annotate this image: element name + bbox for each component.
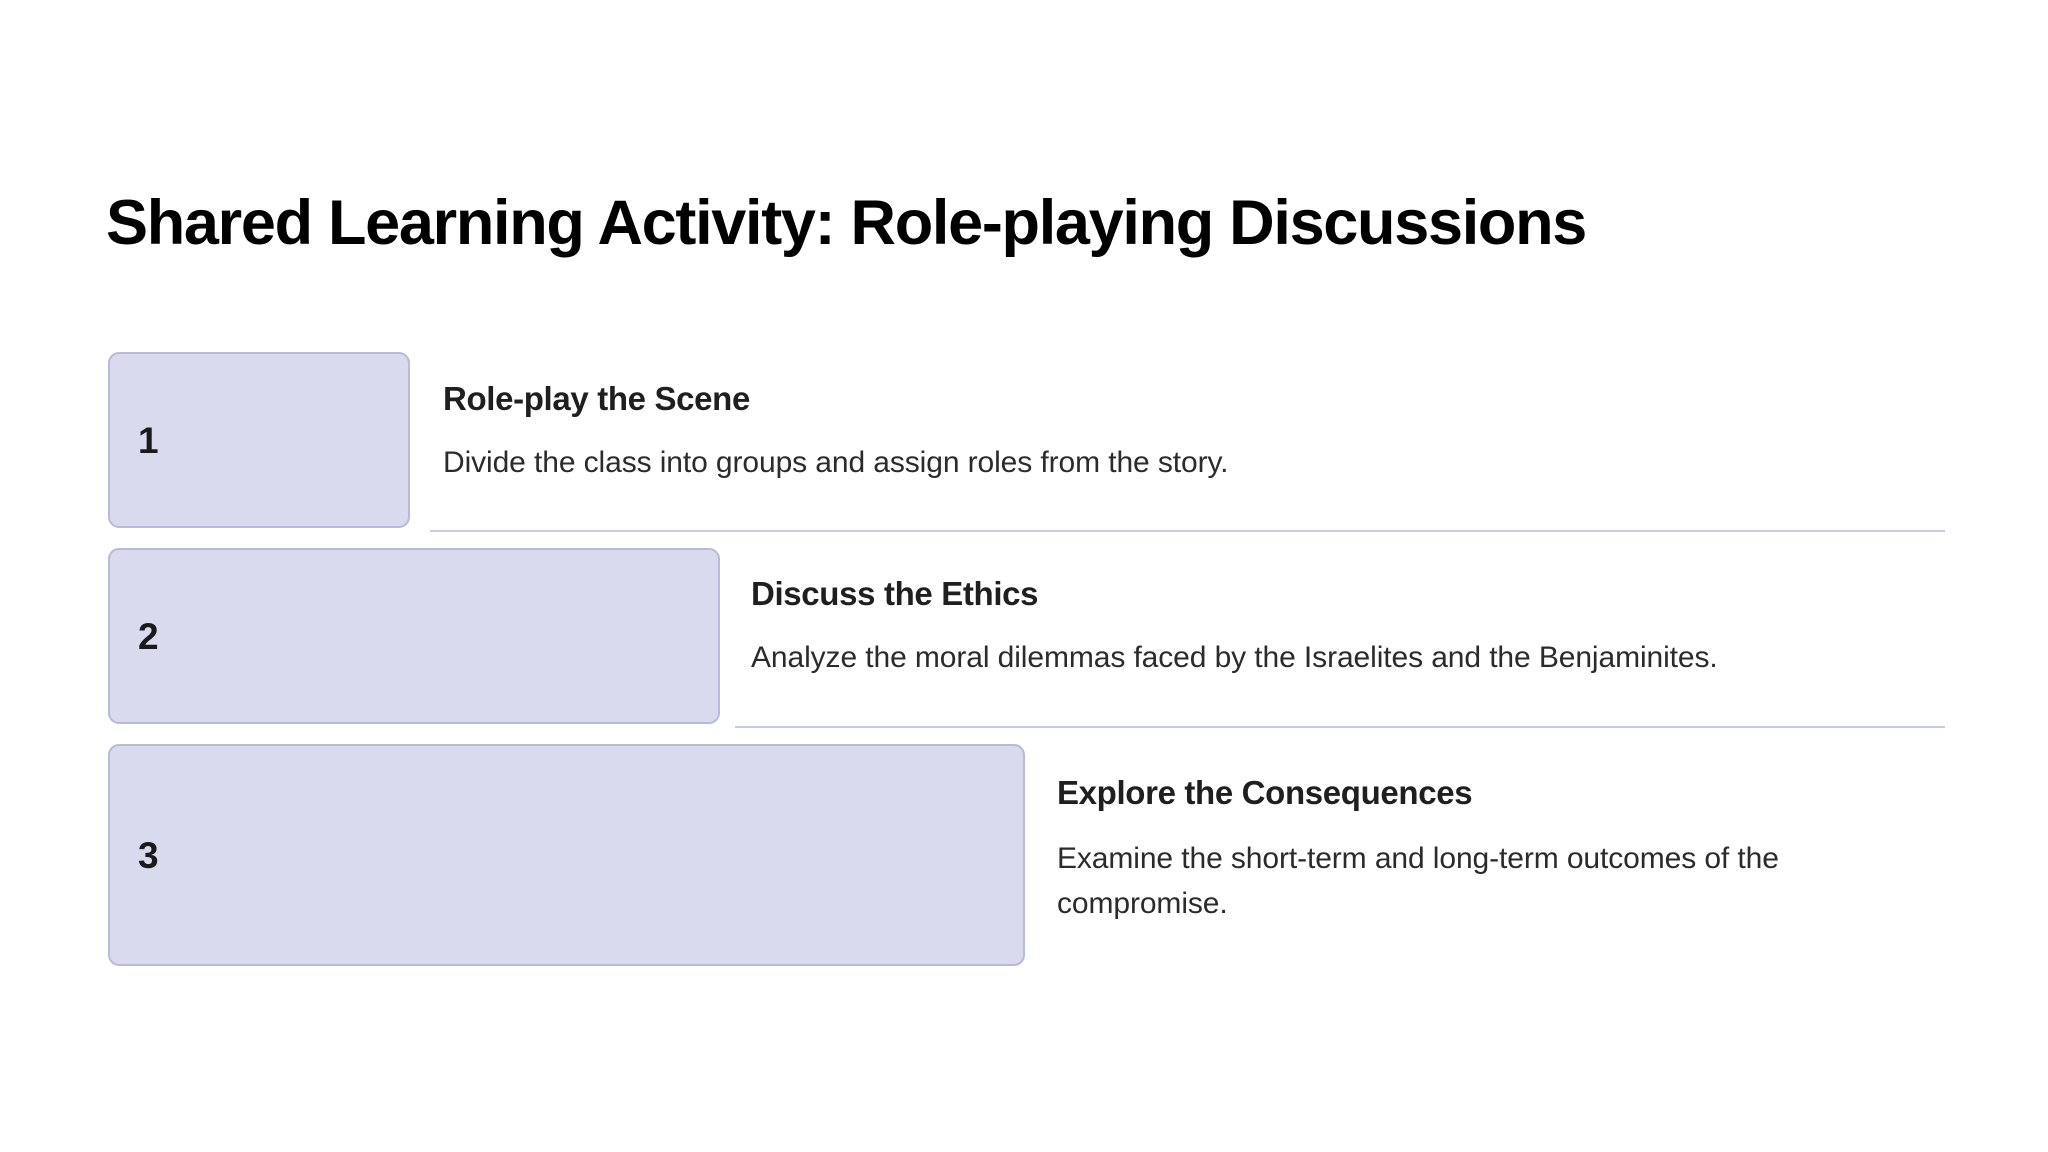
step-heading: Role-play the Scene	[443, 378, 1943, 419]
row-divider	[735, 726, 1945, 728]
step-heading: Discuss the Ethics	[751, 573, 1951, 614]
page-title: Shared Learning Activity: Role-playing D…	[106, 186, 1586, 260]
step-heading: Explore the Consequences	[1057, 772, 1857, 813]
slide-canvas: Shared Learning Activity: Role-playing D…	[0, 0, 2048, 1152]
step-description: Divide the class into groups and assign …	[443, 441, 1943, 485]
step-number-box: 1	[108, 352, 410, 528]
step-number-box: 2	[108, 548, 720, 724]
step-description: Analyze the moral dilemmas faced by the …	[751, 636, 1951, 680]
step-content: Explore the Consequences Examine the sho…	[1057, 772, 1857, 926]
row-divider	[430, 530, 1945, 532]
step-number-box: 3	[108, 744, 1025, 966]
step-number-label: 1	[138, 422, 159, 459]
step-description: Examine the short-term and long-term out…	[1057, 837, 1857, 926]
step-number-label: 3	[138, 837, 159, 874]
step-content: Role-play the Scene Divide the class int…	[443, 378, 1943, 486]
step-number-label: 2	[138, 618, 159, 655]
step-content: Discuss the Ethics Analyze the moral dil…	[751, 573, 1951, 681]
